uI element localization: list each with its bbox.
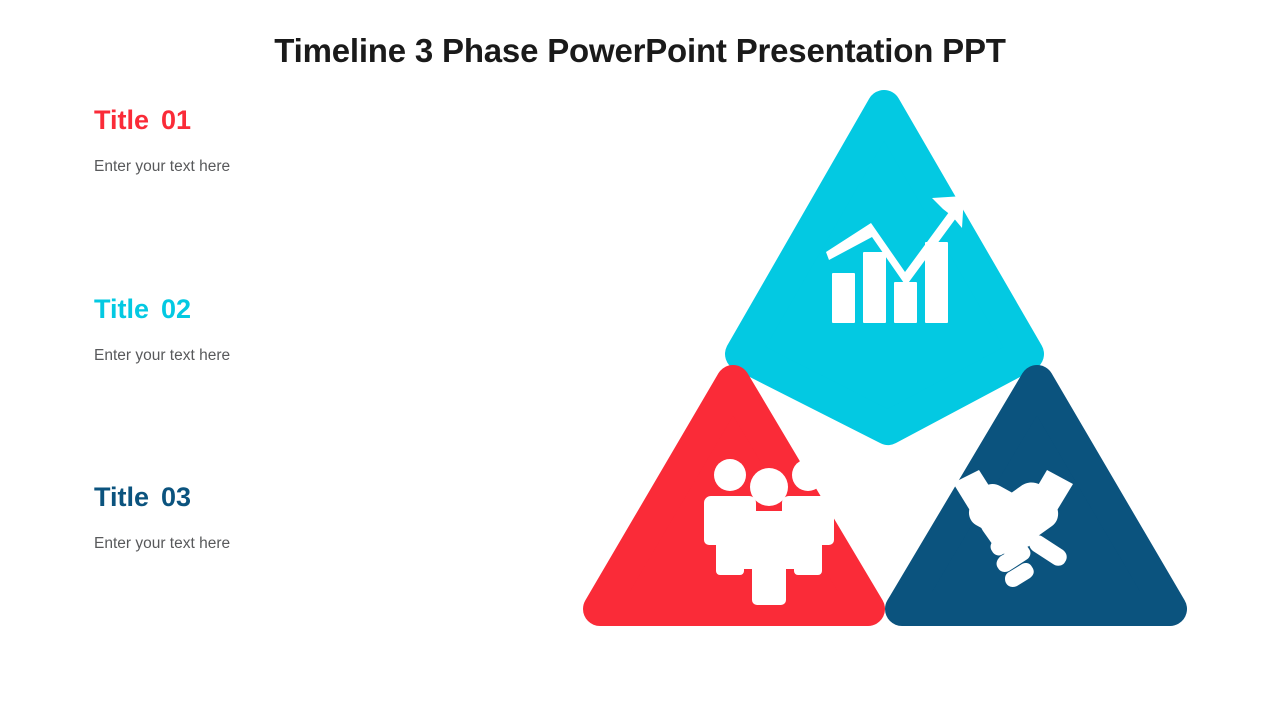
segmented-triangle-diagram xyxy=(575,90,1195,635)
block-title-label-01: Title xyxy=(94,105,149,135)
block-title-label-02: Title xyxy=(94,294,149,324)
block-description-03: Enter your text here xyxy=(94,513,524,554)
block-title-number-01: 01 xyxy=(161,105,191,135)
text-block-01: Title01 Enter your text here xyxy=(94,106,524,176)
slide-canvas: Timeline 3 Phase PowerPoint Presentation… xyxy=(0,0,1280,720)
block-title-number-03: 03 xyxy=(161,482,191,512)
text-block-02: Title02 Enter your text here xyxy=(94,295,524,365)
block-title-number-02: 02 xyxy=(161,294,191,324)
block-title-02: Title02 xyxy=(94,295,524,325)
text-block-03: Title03 Enter your text here xyxy=(94,483,524,553)
block-title-03: Title03 xyxy=(94,483,524,513)
block-description-01: Enter your text here xyxy=(94,136,524,177)
block-description-02: Enter your text here xyxy=(94,325,524,366)
block-title-label-03: Title xyxy=(94,482,149,512)
page-title: Timeline 3 Phase PowerPoint Presentation… xyxy=(0,32,1280,70)
block-title-01: Title01 xyxy=(94,106,524,136)
diagram-segment-top[interactable] xyxy=(742,107,1027,428)
